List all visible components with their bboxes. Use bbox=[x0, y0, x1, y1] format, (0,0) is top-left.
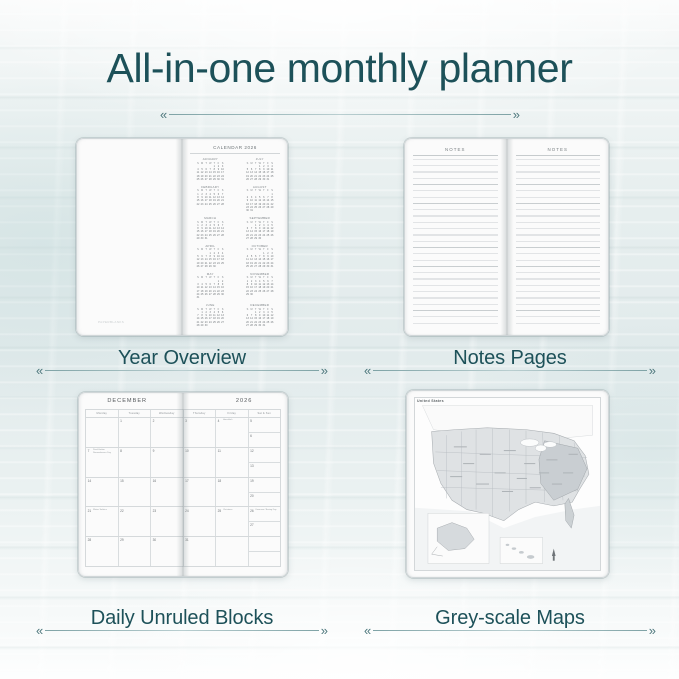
day-cell[interactable] bbox=[86, 418, 119, 447]
notes-heading-right: NOTES bbox=[507, 147, 610, 152]
notebook-page-left: PAPERBLANKS bbox=[76, 138, 182, 336]
mini-month-name: APRIL bbox=[205, 244, 215, 248]
day-cell[interactable] bbox=[216, 537, 249, 566]
map-frame bbox=[414, 397, 601, 571]
double-chevron-left-icon: « bbox=[364, 624, 371, 637]
mini-month-name: SEPTEMBER bbox=[249, 216, 270, 220]
day-number: 1 bbox=[120, 419, 122, 423]
month-name: DECEMBER bbox=[107, 398, 147, 404]
day-cell[interactable] bbox=[249, 552, 281, 566]
day-cell[interactable]: 20 bbox=[249, 493, 281, 507]
double-chevron-right-icon: » bbox=[513, 108, 520, 121]
day-cell[interactable]: 14 bbox=[86, 478, 119, 507]
day-number: 5 bbox=[250, 419, 252, 423]
mini-month: JUNESMTWTFS12345678910111213141516171819… bbox=[187, 303, 234, 330]
mini-month-name: FEBRUARY bbox=[201, 185, 219, 189]
mini-month: JULYSMTWTFS12345678910111213141516171819… bbox=[237, 157, 284, 184]
divider-line bbox=[169, 114, 511, 115]
day-cell[interactable]: 11 bbox=[216, 448, 249, 477]
day-number: 25 bbox=[218, 509, 222, 513]
notebook-spread: NOTES NOTES bbox=[404, 138, 609, 336]
notebook-page-right: NOTES bbox=[507, 138, 610, 336]
day-number: 28 bbox=[88, 538, 92, 542]
day-cell[interactable]: 6 bbox=[249, 433, 281, 447]
divider-line bbox=[373, 630, 647, 631]
map-container: United States bbox=[406, 390, 609, 578]
mini-month: JANUARYSMTWTFS12345678910111213141516171… bbox=[187, 157, 234, 184]
day-cell[interactable]: 5 bbox=[249, 418, 281, 433]
notebook-page-right: CALENDAR 2026 JANUARYSMTWTFS123456789101… bbox=[182, 138, 288, 336]
day-event: Winter Solstice bbox=[93, 509, 117, 511]
day-cell[interactable]: 4Hanukkah bbox=[216, 418, 249, 447]
day-number: 19 bbox=[250, 479, 254, 483]
feature-panel-daily-unruled-blocks: DECEMBER 2026 MondayTuesdayWednesdayThur… bbox=[78, 392, 288, 577]
mini-month-days: 1234567891011121314151617181920212223242… bbox=[245, 165, 274, 181]
day-number: 29 bbox=[120, 538, 124, 542]
ruled-lines-left bbox=[413, 159, 498, 328]
day-cell[interactable]: 15 bbox=[119, 478, 152, 507]
day-number: 4 bbox=[218, 419, 220, 423]
double-chevron-right-icon: » bbox=[649, 364, 656, 377]
mini-month-name: JUNE bbox=[206, 303, 215, 307]
year-months-grid: JANUARYSMTWTFS12345678910111213141516171… bbox=[187, 157, 283, 330]
notebook-gutter bbox=[176, 138, 189, 336]
day-cell[interactable]: 22 bbox=[119, 507, 152, 536]
day-cell[interactable]: 28 bbox=[86, 537, 119, 566]
day-number: 8 bbox=[120, 449, 122, 453]
mini-month-days: 1234567891011121314151617181920212223242… bbox=[245, 252, 274, 268]
caption-divider-year-overview: « » bbox=[36, 364, 328, 376]
notes-heading-left: NOTES bbox=[404, 147, 507, 152]
day-number: 22 bbox=[120, 509, 124, 513]
map-title: United States bbox=[417, 399, 444, 403]
notebook-spread: United States bbox=[406, 390, 609, 578]
mini-month-name: MARCH bbox=[204, 216, 216, 220]
day-number: 12 bbox=[250, 449, 254, 453]
double-chevron-left-icon: « bbox=[160, 108, 167, 121]
mini-month-days: 1234567891011121314151617181920212223242… bbox=[245, 311, 274, 327]
mini-month: APRILSMTWTFS1234567891011121314151617181… bbox=[187, 244, 234, 271]
column-header: Monday bbox=[86, 410, 119, 417]
mini-month: NOVEMBERSMTWTFS1234567891011121314151617… bbox=[237, 272, 284, 302]
day-cell[interactable]: 27 bbox=[249, 522, 281, 536]
day-cell[interactable]: 29 bbox=[119, 537, 152, 566]
mini-month-days: 1234567891011121314151617181920212223242… bbox=[196, 280, 225, 300]
feature-panel-notes-pages: NOTES NOTES bbox=[404, 138, 609, 336]
weekend-cell[interactable]: 1920 bbox=[249, 478, 281, 507]
month-year: 2026 bbox=[236, 398, 252, 404]
product-photo-notes-pages: NOTES NOTES bbox=[404, 138, 609, 336]
weekend-cell[interactable] bbox=[249, 537, 281, 566]
double-chevron-right-icon: » bbox=[321, 624, 328, 637]
notebook-gutter bbox=[500, 138, 513, 336]
day-number: 16 bbox=[153, 479, 157, 483]
mini-month-days: 1234567891011121314151617181920212223242… bbox=[245, 280, 274, 296]
mini-month-name: NOVEMBER bbox=[250, 272, 269, 276]
mini-month: OCTOBERSMTWTFS12345678910111213141516171… bbox=[237, 244, 284, 271]
mini-month-name: JULY bbox=[256, 157, 264, 161]
notebook-spread: PAPERBLANKS CALENDAR 2026 JANUARYSMTWTFS… bbox=[76, 138, 288, 336]
day-number: 23 bbox=[153, 509, 157, 513]
caption-divider-grey-scale-maps: « » bbox=[364, 624, 656, 636]
product-photo-daily-unruled-blocks: DECEMBER 2026 MondayTuesdayWednesdayThur… bbox=[78, 392, 288, 577]
day-number: 11 bbox=[218, 449, 221, 453]
double-chevron-left-icon: « bbox=[36, 364, 43, 377]
double-chevron-right-icon: » bbox=[321, 364, 328, 377]
day-cell[interactable]: 26Kwanzaa / Boxing Day bbox=[249, 507, 281, 522]
divider-line bbox=[45, 630, 319, 631]
day-cell[interactable]: 13 bbox=[249, 463, 281, 477]
column-header: Friday bbox=[216, 410, 249, 417]
day-cell[interactable]: 18 bbox=[216, 478, 249, 507]
weekend-cell[interactable]: 56 bbox=[249, 418, 281, 447]
feature-panel-year-overview: PAPERBLANKS CALENDAR 2026 JANUARYSMTWTFS… bbox=[76, 138, 288, 336]
notebook-spread: DECEMBER 2026 MondayTuesdayWednesdayThur… bbox=[78, 392, 288, 577]
double-chevron-left-icon: « bbox=[36, 624, 43, 637]
day-number: 7 bbox=[88, 449, 90, 453]
notebook-page-left: NOTES bbox=[404, 138, 507, 336]
day-event: Pearl Harbor Remembrance Day bbox=[93, 449, 117, 454]
double-chevron-right-icon: » bbox=[649, 624, 656, 637]
caption-divider-daily-unruled-blocks: « » bbox=[36, 624, 328, 636]
day-number: 15 bbox=[120, 479, 124, 483]
day-event: Kwanzaa / Boxing Day bbox=[256, 509, 280, 511]
mini-month-name: JANUARY bbox=[202, 157, 218, 161]
day-number: 9 bbox=[153, 449, 155, 453]
day-cell[interactable] bbox=[249, 537, 281, 552]
column-header: Sat & Sun bbox=[249, 410, 281, 417]
day-cell[interactable]: 8 bbox=[119, 448, 152, 477]
day-number: 20 bbox=[250, 494, 254, 498]
day-event: Christmas bbox=[223, 509, 247, 511]
column-header: Tuesday bbox=[119, 410, 152, 417]
day-number: 6 bbox=[250, 434, 252, 438]
day-number: 21 bbox=[88, 509, 92, 513]
notebook-gutter bbox=[177, 392, 190, 577]
weekend-cell[interactable]: 26Kwanzaa / Boxing Day27 bbox=[249, 507, 281, 536]
feature-panel-grey-scale-maps: United States bbox=[406, 390, 609, 578]
caption-divider-notes-pages: « » bbox=[364, 364, 656, 376]
mini-month: FEBRUARYSMTWTFS1234567891011121314151617… bbox=[187, 185, 234, 215]
mini-month-days: 1234567891011121314151617181920212223242… bbox=[196, 165, 225, 181]
mini-month: SEPTEMBERSMTWTFS123456789101112131415161… bbox=[237, 216, 284, 243]
day-number: 26 bbox=[250, 509, 254, 513]
mini-month: DECEMBERSMTWTFS1234567891011121314151617… bbox=[237, 303, 284, 330]
mini-month-days: 1234567891011121314151617181920212223242… bbox=[245, 193, 274, 213]
ruled-lines-right bbox=[516, 159, 601, 328]
day-cell[interactable]: 7Pearl Harbor Remembrance Day bbox=[86, 448, 119, 477]
mini-month: MAYSMTWTFS123456789101112131415161718192… bbox=[187, 272, 234, 302]
mini-month-days: 1234567891011121314151617181920212223242… bbox=[196, 252, 225, 268]
day-number: 18 bbox=[218, 479, 222, 483]
page-title: All-in-one monthly planner bbox=[0, 46, 679, 91]
notes-heading-rule bbox=[413, 155, 498, 156]
mini-month-days: 1234567891011121314151617181920212223242… bbox=[196, 311, 225, 327]
united-states-map-graphic bbox=[415, 398, 600, 570]
brand-mark: PAPERBLANKS bbox=[98, 320, 124, 324]
divider-line bbox=[373, 370, 647, 371]
day-number: 14 bbox=[88, 479, 92, 483]
product-photo-grey-scale-maps: United States bbox=[406, 390, 609, 578]
product-photo-year-overview: PAPERBLANKS CALENDAR 2026 JANUARYSMTWTFS… bbox=[76, 138, 288, 336]
divider-line bbox=[45, 370, 319, 371]
mini-month-name: AUGUST bbox=[253, 185, 267, 189]
day-number: 13 bbox=[250, 464, 254, 468]
double-chevron-left-icon: « bbox=[364, 364, 371, 377]
mini-month-days: 1234567891011121314151617181920212223242… bbox=[196, 193, 225, 206]
day-cell[interactable]: 25Christmas bbox=[216, 507, 249, 536]
day-number: 27 bbox=[250, 523, 254, 527]
day-cell[interactable]: 12 bbox=[249, 448, 281, 463]
mini-month: MARCHSMTWTFS1234567891011121314151617181… bbox=[187, 216, 234, 243]
mini-month-days: 1234567891011121314151617181920212223242… bbox=[245, 224, 274, 240]
calendar-heading-rule bbox=[190, 153, 280, 154]
notes-heading-rule bbox=[516, 155, 601, 156]
day-cell[interactable]: 1 bbox=[119, 418, 152, 447]
weekend-cell[interactable]: 1213 bbox=[249, 448, 281, 477]
day-number: 2 bbox=[153, 419, 155, 423]
day-cell[interactable]: 19 bbox=[249, 478, 281, 493]
mini-month-name: MAY bbox=[207, 272, 214, 276]
title-divider: « » bbox=[160, 108, 520, 120]
mini-month-name: OCTOBER bbox=[252, 244, 268, 248]
day-number: 30 bbox=[153, 538, 157, 542]
mini-month-days: 1234567891011121314151617181920212223242… bbox=[196, 224, 225, 240]
mini-month-name: DECEMBER bbox=[250, 303, 269, 307]
calendar-heading: CALENDAR 2026 bbox=[182, 145, 288, 150]
mini-month: AUGUSTSMTWTFS123456789101112131415161718… bbox=[237, 185, 284, 215]
day-event: Hanukkah bbox=[223, 419, 247, 421]
day-cell[interactable]: 21Winter Solstice bbox=[86, 507, 119, 536]
